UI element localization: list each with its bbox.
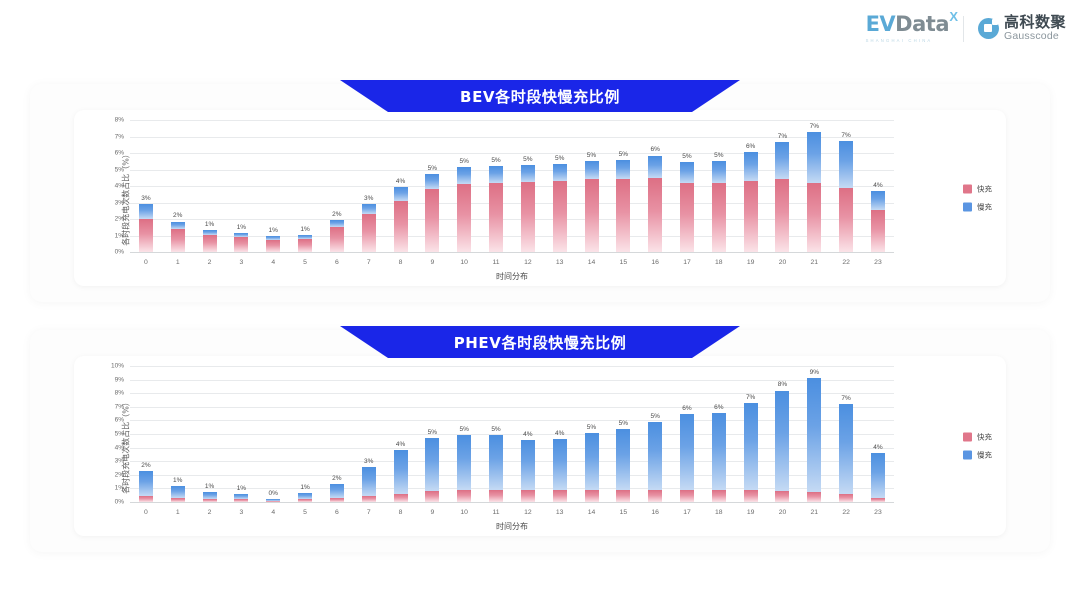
stacked-bar[interactable] <box>871 191 885 252</box>
bar-segment-fast-charge[interactable] <box>234 499 248 502</box>
x-tick-label: 22 <box>830 509 862 516</box>
bar-value-label: 5% <box>523 156 532 163</box>
bar-value-label: 5% <box>459 158 468 165</box>
bar-segment-slow-charge[interactable] <box>616 429 630 490</box>
y-tick-label: 1% <box>115 485 124 492</box>
bar-segment-fast-charge[interactable] <box>298 239 312 252</box>
stacked-bar[interactable] <box>425 438 439 502</box>
bar-column[interactable]: 7% <box>735 366 767 502</box>
bar-segment-fast-charge[interactable] <box>680 183 694 252</box>
banner-bev: BEV各时段快慢充比例 <box>340 80 740 112</box>
bar-segment-fast-charge[interactable] <box>330 227 344 252</box>
bar-segment-slow-charge[interactable] <box>457 167 471 183</box>
bar-series: 2%1%1%1%0%1%2%3%4%5%5%5%4%4%5%5%5%6%6%7%… <box>130 366 894 502</box>
bar-segment-fast-charge[interactable] <box>457 184 471 252</box>
x-axis-ticks: 01234567891011121314151617181920212223 <box>130 509 894 516</box>
bar-segment-slow-charge[interactable] <box>775 142 789 179</box>
bar-segment-slow-charge[interactable] <box>139 204 153 219</box>
bar-segment-fast-charge[interactable] <box>585 490 599 502</box>
y-tick-label: 6% <box>115 417 124 424</box>
stacked-bar[interactable] <box>807 132 821 252</box>
bar-value-label: 1% <box>205 221 214 228</box>
x-tick-label: 23 <box>862 259 894 266</box>
bar-column[interactable]: 5% <box>480 366 512 502</box>
bar-column[interactable]: 5% <box>480 120 512 252</box>
bar-segment-fast-charge[interactable] <box>139 496 153 502</box>
bar-segment-fast-charge[interactable] <box>871 210 885 252</box>
bar-value-label: 7% <box>841 132 850 139</box>
bar-segment-slow-charge[interactable] <box>203 492 217 499</box>
bar-segment-slow-charge[interactable] <box>553 164 567 181</box>
bar-value-label: 5% <box>428 429 437 436</box>
bar-segment-slow-charge[interactable] <box>807 132 821 183</box>
bar-column[interactable]: 2% <box>321 120 353 252</box>
stacked-bar[interactable] <box>839 141 853 252</box>
bar-value-label: 4% <box>396 178 405 185</box>
bar-value-label: 1% <box>205 483 214 490</box>
stacked-bar[interactable] <box>775 390 789 502</box>
y-tick-label: 7% <box>115 133 124 140</box>
bar-segment-slow-charge[interactable] <box>425 174 439 190</box>
bar-column[interactable]: 4% <box>862 120 894 252</box>
x-tick-label: 19 <box>735 509 767 516</box>
stacked-bar[interactable] <box>871 453 885 502</box>
bar-segment-fast-charge[interactable] <box>234 237 248 252</box>
x-axis-label: 时间分布 <box>130 271 894 282</box>
bar-segment-fast-charge[interactable] <box>712 490 726 502</box>
bar-segment-slow-charge[interactable] <box>553 439 567 490</box>
bar-column[interactable]: 3% <box>130 120 162 252</box>
bar-segment-slow-charge[interactable] <box>489 166 503 182</box>
y-tick-label: 3% <box>115 199 124 206</box>
y-tick-label: 4% <box>115 444 124 451</box>
legend-item[interactable]: 快充 <box>963 432 992 443</box>
bar-segment-slow-charge[interactable] <box>648 422 662 490</box>
bar-value-label: 3% <box>141 195 150 202</box>
bar-segment-slow-charge[interactable] <box>744 403 758 490</box>
x-tick-label: 23 <box>862 509 894 516</box>
bar-column[interactable]: 2% <box>162 120 194 252</box>
stacked-bar[interactable] <box>266 499 280 502</box>
y-tick-label: 10% <box>111 363 124 370</box>
bar-column[interactable]: 5% <box>607 120 639 252</box>
bar-segment-fast-charge[interactable] <box>425 491 439 502</box>
gausscode-cn-text: 高科数聚 <box>1004 15 1066 31</box>
bar-segment-slow-charge[interactable] <box>489 435 503 491</box>
stacked-bar[interactable] <box>298 235 312 252</box>
bar-segment-fast-charge[interactable] <box>394 494 408 502</box>
bar-segment-slow-charge[interactable] <box>712 161 726 182</box>
stacked-bar[interactable] <box>680 414 694 502</box>
bar-segment-fast-charge[interactable] <box>330 498 344 502</box>
bar-column[interactable]: 7% <box>830 366 862 502</box>
y-tick-label: 1% <box>115 232 124 239</box>
stacked-bar[interactable] <box>139 204 153 252</box>
bar-value-label: 2% <box>332 211 341 218</box>
bar-value-label: 5% <box>587 424 596 431</box>
stacked-bar[interactable] <box>234 494 248 502</box>
bar-segment-slow-charge[interactable] <box>680 414 694 490</box>
bar-column[interactable]: 1% <box>194 120 226 252</box>
x-tick-label: 7 <box>353 259 385 266</box>
stacked-bar[interactable] <box>521 165 535 252</box>
gausscode-wordmark: 高科数聚 Gausscode <box>1004 15 1066 42</box>
bar-segment-fast-charge[interactable] <box>139 219 153 252</box>
x-tick-label: 10 <box>448 509 480 516</box>
stacked-bar[interactable] <box>171 486 185 502</box>
stacked-bar[interactable] <box>585 161 599 252</box>
bar-segment-slow-charge[interactable] <box>139 471 153 495</box>
bar-column[interactable]: 1% <box>289 366 321 502</box>
x-tick-label: 14 <box>576 509 608 516</box>
bar-value-label: 4% <box>396 441 405 448</box>
bar-value-label: 6% <box>746 143 755 150</box>
bar-value-label: 4% <box>873 182 882 189</box>
legend-swatch <box>963 451 972 460</box>
bar-segment-fast-charge[interactable] <box>712 183 726 252</box>
bar-segment-fast-charge[interactable] <box>489 490 503 502</box>
legend-item[interactable]: 慢充 <box>963 202 992 213</box>
evdata-data-text: Data <box>895 12 949 36</box>
stacked-bar[interactable] <box>457 167 471 252</box>
bar-segment-fast-charge[interactable] <box>744 181 758 252</box>
stacked-bar[interactable] <box>648 155 662 252</box>
bar-column[interactable]: 9% <box>798 366 830 502</box>
bar-segment-fast-charge[interactable] <box>394 201 408 252</box>
y-tick-label: 2% <box>115 216 124 223</box>
bar-segment-slow-charge[interactable] <box>775 391 789 492</box>
bar-segment-slow-charge[interactable] <box>712 413 726 491</box>
header-logos: EVData X SHANGHAI CHINA 高科数聚 Gausscode <box>866 14 1066 43</box>
bar-segment-fast-charge[interactable] <box>266 240 280 252</box>
bar-column[interactable]: 3% <box>353 120 385 252</box>
bar-segment-fast-charge[interactable] <box>521 182 535 252</box>
bar-column[interactable]: 7% <box>830 120 862 252</box>
stacked-bar[interactable] <box>362 467 376 502</box>
x-axis-label: 时间分布 <box>130 521 894 532</box>
bar-segment-fast-charge[interactable] <box>203 235 217 252</box>
bar-segment-fast-charge[interactable] <box>680 490 694 502</box>
evdata-logo: EVData X SHANGHAI CHINA <box>866 14 949 43</box>
stacked-bar[interactable] <box>521 440 535 502</box>
bar-value-label: 7% <box>841 395 850 402</box>
bar-value-label: 5% <box>587 152 596 159</box>
y-tick-label: 0% <box>115 249 124 256</box>
bar-segment-slow-charge[interactable] <box>330 484 344 498</box>
bar-column[interactable]: 5% <box>448 120 480 252</box>
x-tick-label: 15 <box>607 509 639 516</box>
stacked-bar[interactable] <box>330 484 344 502</box>
bar-value-label: 4% <box>523 431 532 438</box>
chart-legend: 快充慢充 <box>963 432 992 461</box>
bar-column[interactable]: 6% <box>703 366 735 502</box>
stacked-bar[interactable] <box>139 471 153 502</box>
bar-segment-fast-charge[interactable] <box>775 179 789 252</box>
x-tick-label: 22 <box>830 259 862 266</box>
stacked-bar[interactable] <box>553 439 567 502</box>
bar-segment-slow-charge[interactable] <box>744 152 758 181</box>
stacked-bar[interactable] <box>648 422 662 502</box>
bar-segment-fast-charge[interactable] <box>266 501 280 502</box>
stacked-bar[interactable] <box>616 160 630 252</box>
bar-segment-slow-charge[interactable] <box>871 191 885 210</box>
x-tick-label: 5 <box>289 259 321 266</box>
bar-segment-slow-charge[interactable] <box>425 438 439 491</box>
bar-series: 3%2%1%1%1%1%2%3%4%5%5%5%5%5%5%5%6%5%5%6%… <box>130 120 894 252</box>
bar-segment-slow-charge[interactable] <box>330 220 344 227</box>
logo-divider <box>963 16 964 42</box>
stacked-bar[interactable] <box>203 230 217 252</box>
bar-column[interactable]: 5% <box>416 120 448 252</box>
x-tick-label: 2 <box>194 259 226 266</box>
bar-segment-fast-charge[interactable] <box>203 499 217 502</box>
chart-legend: 快充慢充 <box>963 184 992 213</box>
bar-column[interactable]: 4% <box>862 366 894 502</box>
bar-value-label: 1% <box>237 485 246 492</box>
x-tick-label: 2 <box>194 509 226 516</box>
stacked-bar[interactable] <box>744 152 758 252</box>
bar-value-label: 1% <box>173 477 182 484</box>
bar-segment-fast-charge[interactable] <box>871 498 885 502</box>
evdata-wordmark: EVData <box>866 14 949 35</box>
bar-segment-fast-charge[interactable] <box>457 490 471 502</box>
stacked-bar[interactable] <box>680 162 694 252</box>
y-tick-label: 9% <box>115 376 124 383</box>
legend-swatch <box>963 185 972 194</box>
stacked-bar[interactable] <box>489 166 503 252</box>
y-tick-label: 5% <box>115 431 124 438</box>
bar-segment-slow-charge[interactable] <box>839 141 853 188</box>
stacked-bar[interactable] <box>425 174 439 252</box>
bar-column[interactable]: 7% <box>767 120 799 252</box>
bar-segment-slow-charge[interactable] <box>648 156 662 178</box>
bar-segment-fast-charge[interactable] <box>616 490 630 502</box>
bar-segment-slow-charge[interactable] <box>362 467 376 496</box>
bar-column[interactable]: 2% <box>130 366 162 502</box>
bar-segment-slow-charge[interactable] <box>871 453 885 498</box>
legend-label: 快充 <box>977 184 992 195</box>
bar-segment-fast-charge[interactable] <box>585 179 599 252</box>
stacked-bar[interactable] <box>775 142 789 252</box>
bar-segment-slow-charge[interactable] <box>807 378 821 492</box>
banner-phev: PHEV各时段快慢充比例 <box>340 326 740 358</box>
bar-segment-slow-charge[interactable] <box>362 204 376 214</box>
bar-value-label: 5% <box>682 153 691 160</box>
x-tick-label: 17 <box>671 509 703 516</box>
bar-segment-fast-charge[interactable] <box>744 490 758 502</box>
chart-card-bev: 各时段充电次数占比（%） 0%1%2%3%4%5%6%7%8% 3%2%1%1%… <box>74 110 1006 286</box>
bar-segment-fast-charge[interactable] <box>648 490 662 502</box>
legend-label: 慢充 <box>977 450 992 461</box>
bar-value-label: 5% <box>428 165 437 172</box>
bar-column[interactable]: 4% <box>385 366 417 502</box>
stacked-bar[interactable] <box>234 233 248 252</box>
bar-segment-fast-charge[interactable] <box>171 498 185 502</box>
bar-segment-fast-charge[interactable] <box>775 491 789 502</box>
bar-value-label: 5% <box>619 420 628 427</box>
bar-column[interactable]: 3% <box>353 366 385 502</box>
gridline <box>130 252 894 253</box>
banner-title-phev: PHEV各时段快慢充比例 <box>454 332 627 353</box>
bar-segment-slow-charge[interactable] <box>394 450 408 494</box>
bar-column[interactable]: 0% <box>257 366 289 502</box>
bar-value-label: 2% <box>173 212 182 219</box>
bar-column[interactable]: 1% <box>257 120 289 252</box>
bar-column[interactable]: 8% <box>767 366 799 502</box>
stacked-bar[interactable] <box>266 236 280 252</box>
x-tick-label: 21 <box>798 259 830 266</box>
bar-column[interactable]: 6% <box>735 120 767 252</box>
stacked-bar[interactable] <box>489 435 503 502</box>
stacked-bar[interactable] <box>553 164 567 252</box>
bar-column[interactable]: 5% <box>448 366 480 502</box>
chart-panel-phev: 各时段充电次数占比（%） 0%1%2%3%4%5%6%7%8%9%10% 2%1… <box>30 330 1050 552</box>
bar-segment-fast-charge[interactable] <box>839 494 853 502</box>
bar-segment-fast-charge[interactable] <box>553 490 567 502</box>
bar-segment-fast-charge[interactable] <box>425 189 439 252</box>
bar-segment-slow-charge[interactable] <box>171 486 185 498</box>
stacked-bar[interactable] <box>457 435 471 502</box>
stacked-bar[interactable] <box>807 378 821 502</box>
bar-value-label: 5% <box>555 155 564 162</box>
bar-segment-slow-charge[interactable] <box>616 160 630 179</box>
chart-bev: 各时段充电次数占比（%） 0%1%2%3%4%5%6%7%8% 3%2%1%1%… <box>74 110 1006 286</box>
x-axis-ticks: 01234567891011121314151617181920212223 <box>130 259 894 266</box>
x-tick-label: 6 <box>321 509 353 516</box>
stacked-bar[interactable] <box>298 493 312 502</box>
bar-segment-fast-charge[interactable] <box>616 179 630 252</box>
bar-column[interactable]: 5% <box>544 120 576 252</box>
bar-segment-fast-charge[interactable] <box>362 496 376 502</box>
bar-value-label: 2% <box>332 475 341 482</box>
bar-value-label: 5% <box>714 152 723 159</box>
y-tick-label: 8% <box>115 117 124 124</box>
x-tick-label: 16 <box>639 259 671 266</box>
x-tick-label: 13 <box>544 259 576 266</box>
stacked-bar[interactable] <box>585 433 599 502</box>
stacked-bar[interactable] <box>394 187 408 252</box>
bar-segment-slow-charge[interactable] <box>680 162 694 183</box>
bar-column[interactable]: 4% <box>385 120 417 252</box>
bar-column[interactable]: 5% <box>639 366 671 502</box>
bar-value-label: 1% <box>300 484 309 491</box>
gridline <box>130 502 894 503</box>
chart-card-phev: 各时段充电次数占比（%） 0%1%2%3%4%5%6%7%8%9%10% 2%1… <box>74 356 1006 536</box>
bar-value-label: 5% <box>650 413 659 420</box>
bar-column[interactable]: 5% <box>576 120 608 252</box>
x-tick-label: 8 <box>385 259 417 266</box>
bar-column[interactable]: 4% <box>544 366 576 502</box>
bar-segment-fast-charge[interactable] <box>489 183 503 252</box>
bar-segment-fast-charge[interactable] <box>521 490 535 502</box>
y-tick-label: 4% <box>115 183 124 190</box>
x-tick-label: 9 <box>416 259 448 266</box>
bar-value-label: 3% <box>364 458 373 465</box>
slide-page: EVData X SHANGHAI CHINA 高科数聚 Gausscode 各… <box>0 0 1080 608</box>
y-axis-ticks: 0%1%2%3%4%5%6%7%8%9%10% <box>100 366 126 502</box>
bar-value-label: 0% <box>269 490 278 497</box>
legend-item[interactable]: 慢充 <box>963 450 992 461</box>
bar-column[interactable]: 5% <box>576 366 608 502</box>
bar-segment-slow-charge[interactable] <box>585 161 599 179</box>
bar-column[interactable]: 1% <box>289 120 321 252</box>
evdata-x-icon: X <box>949 9 958 24</box>
bar-column[interactable]: 1% <box>194 366 226 502</box>
legend-label: 快充 <box>977 432 992 443</box>
x-tick-label: 20 <box>767 509 799 516</box>
bar-value-label: 1% <box>269 227 278 234</box>
bar-column[interactable]: 5% <box>703 120 735 252</box>
bar-value-label: 1% <box>300 226 309 233</box>
bar-segment-fast-charge[interactable] <box>171 229 185 252</box>
stacked-bar[interactable] <box>330 220 344 252</box>
bar-column[interactable]: 1% <box>225 366 257 502</box>
x-tick-label: 4 <box>257 509 289 516</box>
stacked-bar[interactable] <box>712 161 726 252</box>
stacked-bar[interactable] <box>839 404 853 502</box>
bar-segment-fast-charge[interactable] <box>807 492 821 502</box>
banner-title-bev: BEV各时段快慢充比例 <box>460 86 620 107</box>
bar-column[interactable]: 5% <box>607 366 639 502</box>
bar-segment-fast-charge[interactable] <box>839 188 853 252</box>
bar-segment-slow-charge[interactable] <box>394 187 408 201</box>
bar-segment-slow-charge[interactable] <box>839 404 853 494</box>
bar-value-label: 9% <box>810 369 819 376</box>
x-tick-label: 7 <box>353 509 385 516</box>
bar-column[interactable]: 6% <box>671 366 703 502</box>
stacked-bar[interactable] <box>171 221 185 252</box>
bar-column[interactable]: 5% <box>512 120 544 252</box>
x-tick-label: 6 <box>321 259 353 266</box>
bar-segment-slow-charge[interactable] <box>457 435 471 491</box>
x-tick-label: 11 <box>480 509 512 516</box>
bar-column[interactable]: 6% <box>639 120 671 252</box>
stacked-bar[interactable] <box>362 204 376 252</box>
bar-column[interactable]: 1% <box>162 366 194 502</box>
stacked-bar[interactable] <box>616 429 630 502</box>
bar-segment-slow-charge[interactable] <box>171 222 185 229</box>
bar-column[interactable]: 4% <box>512 366 544 502</box>
bar-value-label: 7% <box>746 394 755 401</box>
bar-segment-slow-charge[interactable] <box>585 433 599 490</box>
legend-item[interactable]: 快充 <box>963 184 992 195</box>
stacked-bar[interactable] <box>203 492 217 502</box>
x-tick-label: 12 <box>512 509 544 516</box>
bar-column[interactable]: 1% <box>225 120 257 252</box>
y-axis-ticks: 0%1%2%3%4%5%6%7%8% <box>100 120 126 252</box>
bar-segment-slow-charge[interactable] <box>521 165 535 182</box>
bar-column[interactable]: 5% <box>416 366 448 502</box>
bar-segment-fast-charge[interactable] <box>362 214 376 252</box>
x-tick-label: 17 <box>671 259 703 266</box>
bar-column[interactable]: 2% <box>321 366 353 502</box>
bar-segment-fast-charge[interactable] <box>298 499 312 502</box>
bar-segment-fast-charge[interactable] <box>553 181 567 252</box>
bar-segment-slow-charge[interactable] <box>521 440 535 490</box>
bar-value-label: 8% <box>778 381 787 388</box>
gausscode-mark-icon <box>978 18 999 39</box>
x-tick-label: 16 <box>639 509 671 516</box>
plot-area: 0%1%2%3%4%5%6%7%8%9%10% 2%1%1%1%0%1%2%3%… <box>130 366 894 502</box>
stacked-bar[interactable] <box>712 413 726 502</box>
stacked-bar[interactable] <box>394 450 408 502</box>
x-tick-label: 11 <box>480 259 512 266</box>
bar-column[interactable]: 7% <box>798 120 830 252</box>
stacked-bar[interactable] <box>744 403 758 502</box>
bar-segment-fast-charge[interactable] <box>648 178 662 252</box>
bar-column[interactable]: 5% <box>671 120 703 252</box>
bar-segment-fast-charge[interactable] <box>807 183 821 252</box>
